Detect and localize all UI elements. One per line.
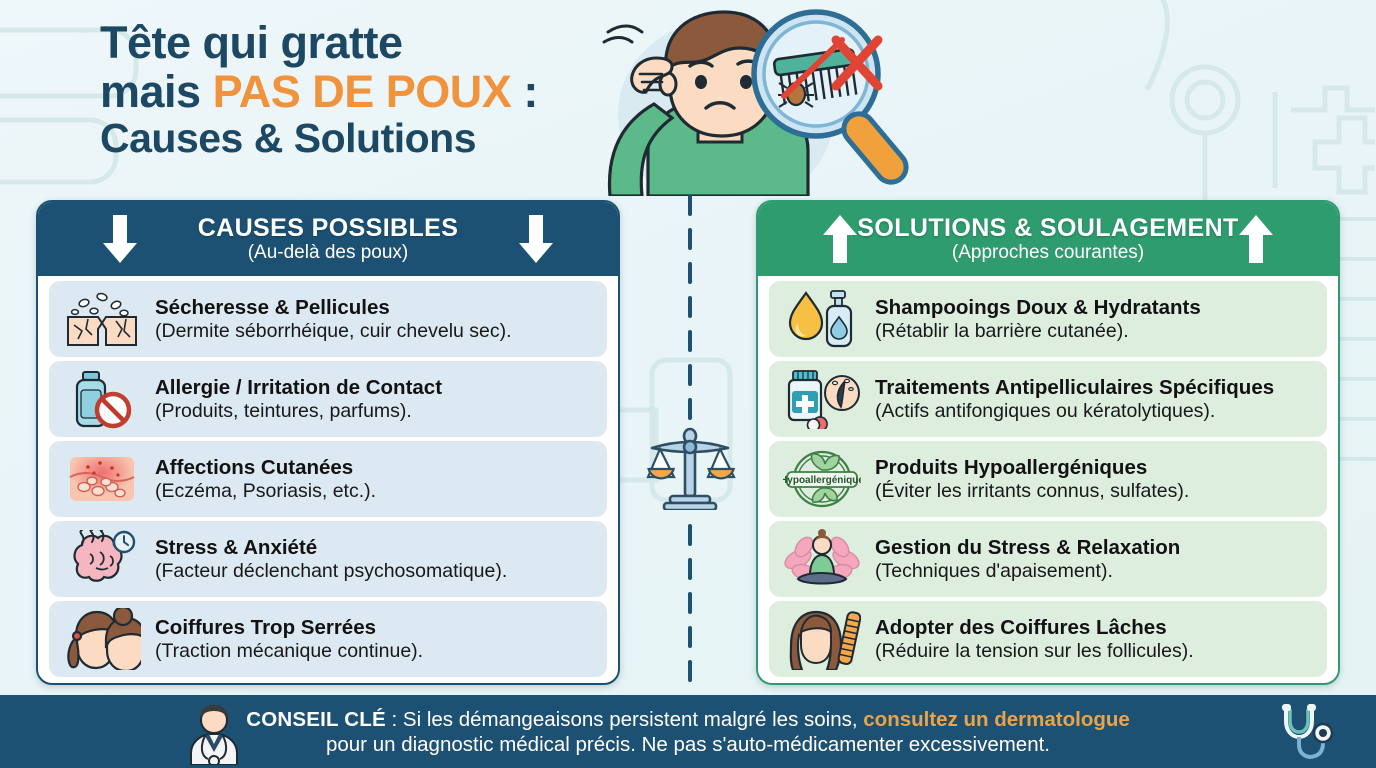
stethoscope-icon [1276,703,1334,763]
list-item[interactable]: Affections Cutanées (Eczéma, Psoriasis, … [49,441,607,517]
meditation-lotus-icon [783,528,861,590]
arrow-down-icon [100,213,140,265]
bottom-banner: CONSEIL CLÉ : Si les démangeaisons persi… [0,695,1376,768]
title-accent: PAS DE POUX [213,66,512,117]
banner-text-after: pour un diagnostic médical précis. Ne pa… [326,733,1050,756]
shampoo-bottle-prohibited-icon [63,368,141,430]
list-item-subtitle: (Actifs antifongiques ou kératolytiques)… [875,400,1215,422]
panel-solutions: SOLUTIONS & SOULAGEMENT (Approches coura… [756,200,1340,685]
list-item[interactable]: Sécheresse & Pellicules (Dermite séborrh… [49,281,607,357]
oil-drop-and-shampoo-bottle-icon [783,288,861,350]
list-item-text: Produits Hypoallergéniques (Éviter les i… [875,456,1313,502]
list-item-title: Stress & Anxiété [155,536,317,559]
list-item-title: Traitements Antipelliculaires Spécifique… [875,376,1274,399]
list-item-text: Allergie / Irritation de Contact (Produi… [155,376,593,422]
panel-causes-subtitle: (Au-delà des poux) [198,242,459,263]
page-title: Tête qui gratte mais PAS DE POUX : Cause… [100,18,620,161]
list-item[interactable]: Gestion du Stress & Relaxation (Techniqu… [769,521,1327,597]
list-item-subtitle: (Traction mécanique continue). [155,640,423,662]
list-item-title: Affections Cutanées [155,456,353,479]
panel-causes-title: CAUSES POSSIBLES [198,214,459,242]
title-line-2-suffix: : [511,66,538,117]
inflamed-skin-rash-icon [63,448,141,510]
list-item-subtitle: (Eczéma, Psoriasis, etc.). [155,480,376,502]
medicine-bottle-hair-follicle-icon [783,368,861,430]
arrow-up-icon [820,213,860,265]
list-item-title: Allergie / Irritation de Contact [155,376,442,399]
list-item-subtitle: (Rétablir la barrière cutanée). [875,320,1129,342]
list-item-title: Produits Hypoallergéniques [875,456,1147,479]
title-line-2-prefix: mais [100,66,213,117]
arrow-up-icon-2 [1236,213,1276,265]
banner-keyword: CONSEIL CLÉ [246,708,386,731]
list-item-text: Gestion du Stress & Relaxation (Techniqu… [875,536,1313,582]
list-item-text: Shampooings Doux & Hydratants (Rétablir … [875,296,1313,342]
list-item-title: Gestion du Stress & Relaxation [875,536,1180,559]
panel-solutions-list: Shampooings Doux & Hydratants (Rétablir … [758,276,1338,684]
list-item-text: Traitements Antipelliculaires Spécifique… [875,376,1313,422]
panel-solutions-title: SOLUTIONS & SOULAGEMENT [857,214,1238,242]
list-item[interactable]: Allergie / Irritation de Contact (Produi… [49,361,607,437]
list-item-title: Shampooings Doux & Hydratants [875,296,1201,319]
loose-hair-comb-icon [783,608,861,670]
list-item-subtitle: (Techniques d'apaisement). [875,560,1113,582]
list-item-text: Stress & Anxiété (Facteur déclenchant ps… [155,536,593,582]
list-item[interactable]: Stress & Anxiété (Facteur déclenchant ps… [49,521,607,597]
panel-causes-list: Sécheresse & Pellicules (Dermite séborrh… [38,276,618,684]
title-line-1: Tête qui gratte [100,18,620,67]
doctor-avatar-icon [185,703,243,765]
panel-causes-header: CAUSES POSSIBLES (Au-delà des poux) [38,202,618,276]
list-item-text: Affections Cutanées (Eczéma, Psoriasis, … [155,456,593,502]
list-item[interactable]: Adopter des Coiffures Lâches (Réduire la… [769,601,1327,677]
title-line-2: mais PAS DE POUX : [100,67,620,116]
header: Tête qui gratte mais PAS DE POUX : Cause… [0,0,1376,195]
banner-text: CONSEIL CLÉ : Si les démangeaisons persi… [246,707,1130,757]
tight-hairstyles-icon [63,608,141,670]
panel-solutions-header: SOLUTIONS & SOULAGEMENT (Approches coura… [758,202,1338,276]
brain-stress-clock-icon [63,528,141,590]
banner-text-before: : Si les démangeaisons persistent malgré… [386,708,863,731]
list-item[interactable]: Traitements Antipelliculaires Spécifique… [769,361,1327,437]
list-item-subtitle: (Éviter les irritants connus, sulfates). [875,480,1189,502]
hero-illustration [548,0,928,196]
banner-highlight: consultez un dermatologue [863,708,1130,731]
dry-cracked-scalp-dandruff-icon [63,288,141,350]
list-item[interactable]: Shampooings Doux & Hydratants (Rétablir … [769,281,1327,357]
list-item[interactable]: Hypoallergénique Produits Hypoallergéniq… [769,441,1327,517]
list-item-text: Sécheresse & Pellicules (Dermite séborrh… [155,296,593,342]
list-item-subtitle: (Facteur déclenchant psychosomatique). [155,560,507,582]
arrow-down-icon-2 [516,213,556,265]
list-item[interactable]: Coiffures Trop Serrées (Traction mécaniq… [49,601,607,677]
panel-solutions-subtitle: (Approches courantes) [857,242,1238,263]
balance-scale-icon [642,424,738,510]
list-item-title: Sécheresse & Pellicules [155,296,390,319]
list-item-subtitle: (Produits, teintures, parfums). [155,400,412,422]
list-item-text: Adopter des Coiffures Lâches (Réduire la… [875,616,1313,662]
list-item-title: Coiffures Trop Serrées [155,616,376,639]
list-item-subtitle: (Réduire la tension sur les follicules). [875,640,1194,662]
hypoallergenic-leaf-badge-icon: Hypoallergénique [783,448,861,510]
list-item-subtitle: (Dermite séborrhéique, cuir chevelu sec)… [155,320,512,342]
title-line-3: Causes & Solutions [100,116,620,161]
panel-causes: CAUSES POSSIBLES (Au-delà des poux) [36,200,620,685]
list-item-title: Adopter des Coiffures Lâches [875,616,1167,639]
hypoallergenic-badge-label: Hypoallergénique [783,475,861,486]
list-item-text: Coiffures Trop Serrées (Traction mécaniq… [155,616,593,662]
